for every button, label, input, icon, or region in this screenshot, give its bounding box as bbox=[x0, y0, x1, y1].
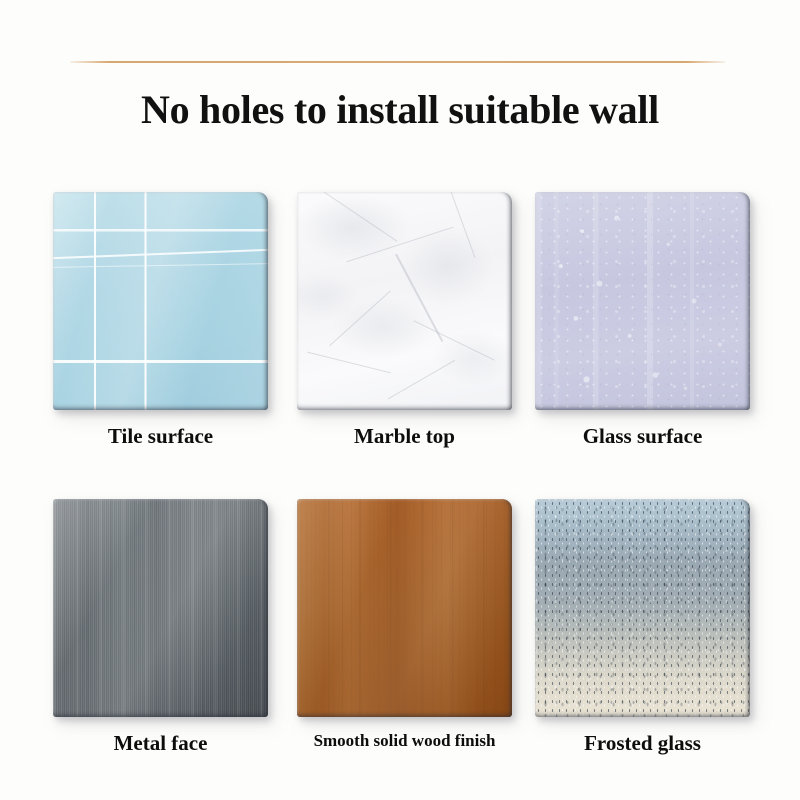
marble-vein bbox=[388, 360, 456, 400]
material-label-frosted-glass: Frosted glass bbox=[535, 731, 750, 755]
marble-swatch bbox=[297, 192, 512, 410]
material-card-smooth-solid-wood-finish: Smooth solid wood finish bbox=[297, 499, 512, 751]
material-label-glass-surface: Glass surface bbox=[535, 424, 750, 448]
marble-vein bbox=[450, 192, 476, 258]
wood-swatch bbox=[297, 499, 512, 717]
material-label-tile-surface: Tile surface bbox=[53, 424, 268, 448]
marble-texture bbox=[297, 192, 512, 410]
marble-vein bbox=[318, 192, 397, 242]
material-card-tile-surface: Tile surface bbox=[53, 192, 268, 448]
metal-texture bbox=[53, 499, 268, 717]
marble-vein bbox=[347, 227, 454, 263]
material-card-glass-surface: Glass surface bbox=[535, 192, 750, 448]
material-card-frosted-glass: Frosted glass bbox=[535, 499, 750, 755]
frosted-glass-swatch bbox=[535, 499, 750, 717]
marble-vein bbox=[329, 291, 390, 346]
infographic-page: No holes to install suitable wall Tile s… bbox=[0, 0, 800, 800]
marble-vein bbox=[307, 352, 391, 374]
glass-swatch bbox=[535, 192, 750, 410]
tile-swatch bbox=[53, 192, 268, 410]
glass-texture bbox=[535, 192, 750, 410]
marble-vein bbox=[396, 253, 444, 341]
frosted-glass-texture bbox=[535, 499, 750, 717]
material-card-marble-top: Marble top bbox=[297, 192, 512, 448]
material-card-metal-face: Metal face bbox=[53, 499, 268, 755]
material-label-marble-top: Marble top bbox=[297, 424, 512, 448]
material-label-metal-face: Metal face bbox=[53, 731, 268, 755]
material-label-smooth-solid-wood-finish: Smooth solid wood finish bbox=[297, 731, 512, 751]
tile-texture bbox=[53, 192, 268, 410]
metal-swatch bbox=[53, 499, 268, 717]
material-swatch-grid: Tile surface Marble top bbox=[0, 0, 800, 800]
marble-vein bbox=[413, 321, 495, 362]
wood-texture bbox=[297, 499, 512, 717]
